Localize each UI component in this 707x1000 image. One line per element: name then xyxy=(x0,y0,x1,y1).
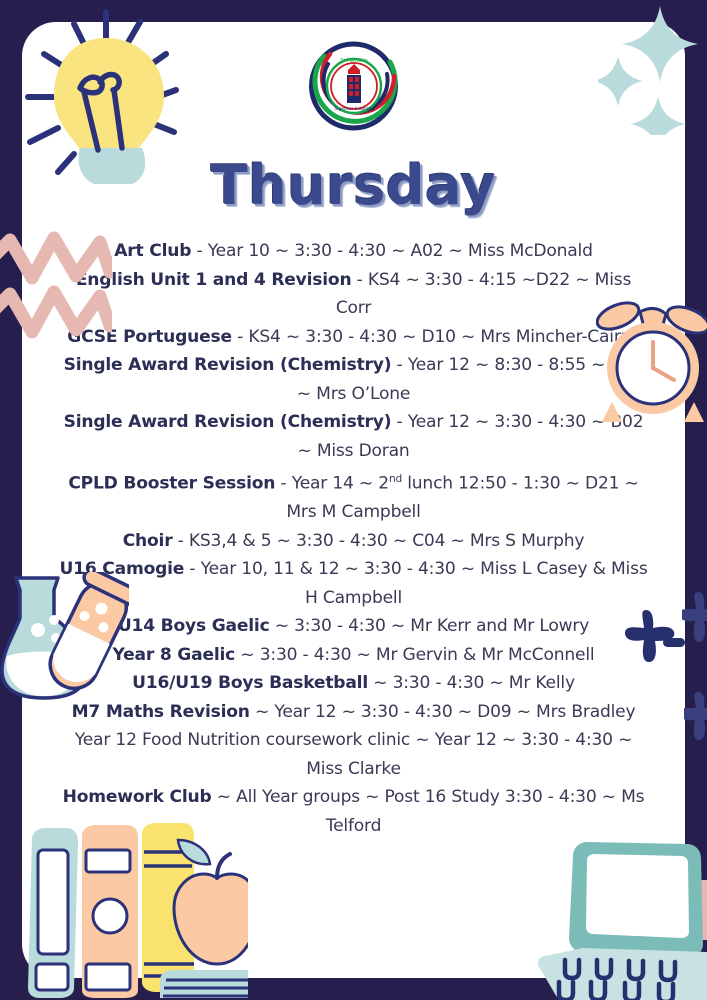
pink-accent-bar xyxy=(690,880,707,940)
entry-details: ~ Year 12 ~ 3:30 - 4:30 ~ D09 ~ Mrs Brad… xyxy=(255,702,635,722)
entry-title: Year 8 Gaelic xyxy=(113,645,236,665)
entry-details-pre: Year 14 ~ 2 xyxy=(292,474,389,494)
entry-separator: - xyxy=(191,241,207,261)
entry-details: KS3,4 & 5 ~ 3:30 - 4:30 ~ C04 ~ Mrs S Mu… xyxy=(189,531,584,551)
entry-title: U14 Boys Gaelic xyxy=(118,616,270,636)
entry-title: U16 Camogie xyxy=(59,559,184,579)
svg-text:St Patrick's: St Patrick's xyxy=(340,58,368,64)
entry-separator: - xyxy=(232,327,248,347)
schedule-entry: CPLD Booster Session - Year 14 ~ 2nd lun… xyxy=(58,465,649,527)
entry-separator: - xyxy=(275,474,291,494)
schedule-entry: Art Club - Year 10 ~ 3:30 - 4:30 ~ A02 ~… xyxy=(58,237,649,266)
entry-details: Year 10 ~ 3:30 - 4:30 ~ A02 ~ Miss McDon… xyxy=(208,241,593,261)
entry-details: ~ 3:30 - 4:30 ~ Mr Kerr and Mr Lowry xyxy=(275,616,589,636)
schedule-entry: GCSE Portuguese - KS4 ~ 3:30 - 4:30 ~ D1… xyxy=(58,323,649,352)
schedule-entry: U14 Boys Gaelic ~ 3:30 - 4:30 ~ Mr Kerr … xyxy=(58,612,649,641)
entry-details: KS4 ~ 3:30 - 4:30 ~ D10 ~ Mrs Mincher-Ca… xyxy=(248,327,639,347)
st-patricks-college-crest-icon: St Patrick's Together Inspiring xyxy=(294,36,414,136)
entry-separator: - xyxy=(172,531,188,551)
poster-root: St Patrick's Together Inspiring Thursday… xyxy=(0,0,707,1000)
schedule-entry: M7 Maths Revision ~ Year 12 ~ 3:30 - 4:3… xyxy=(58,698,649,727)
entry-title: Homework Club xyxy=(63,787,212,807)
entry-title: Year 12 Food Nutrition coursework clinic xyxy=(75,730,410,750)
logo-wrap: St Patrick's Together Inspiring xyxy=(0,36,707,136)
entries-list: Art Club - Year 10 ~ 3:30 - 4:30 ~ A02 ~… xyxy=(0,237,707,840)
schedule-entry: Single Award Revision (Chemistry) - Year… xyxy=(58,351,649,408)
entry-details: ~ All Year groups ~ Post 16 Study 3:30 -… xyxy=(217,787,645,836)
entry-title: Single Award Revision (Chemistry) xyxy=(64,412,392,432)
entry-title: GCSE Portuguese xyxy=(67,327,232,347)
page-title: Thursday xyxy=(0,154,707,217)
poster-content: St Patrick's Together Inspiring Thursday… xyxy=(0,0,707,840)
schedule-entry: English Unit 1 and 4 Revision - KS4 ~ 3:… xyxy=(58,266,649,323)
entry-title: U16/U19 Boys Basketball xyxy=(132,673,368,693)
schedule-entry: Year 12 Food Nutrition coursework clinic… xyxy=(58,726,649,783)
entry-title: Single Award Revision (Chemistry) xyxy=(64,355,392,375)
entry-separator: - xyxy=(351,270,367,290)
entry-title: Art Club xyxy=(114,241,191,261)
schedule-entry: Homework Club ~ All Year groups ~ Post 1… xyxy=(58,783,649,840)
entry-title: CPLD Booster Session xyxy=(68,474,275,494)
entry-separator: - xyxy=(391,412,407,432)
schedule-entry: U16/U19 Boys Basketball ~ 3:30 - 4:30 ~ … xyxy=(58,669,649,698)
entry-separator: - xyxy=(391,355,407,375)
svg-text:Together Inspiring: Together Inspiring xyxy=(332,106,374,112)
entry-title: English Unit 1 and 4 Revision xyxy=(76,270,352,290)
entry-details: Year 10, 11 & 12 ~ 3:30 - 4:30 ~ Miss L … xyxy=(201,559,648,608)
entry-details: KS4 ~ 3:30 - 4:15 ~D22 ~ Miss Corr xyxy=(336,270,631,319)
entry-title: M7 Maths Revision xyxy=(72,702,250,722)
schedule-entry: Year 8 Gaelic ~ 3:30 - 4:30 ~ Mr Gervin … xyxy=(58,641,649,670)
schedule-entry: Choir - KS3,4 & 5 ~ 3:30 - 4:30 ~ C04 ~ … xyxy=(58,527,649,556)
entry-details: ~ 3:30 - 4:30 ~ Mr Gervin & Mr McConnell xyxy=(240,645,594,665)
schedule-entry: Single Award Revision (Chemistry) - Year… xyxy=(58,408,649,465)
schedule-entry: U16 Camogie - Year 10, 11 & 12 ~ 3:30 - … xyxy=(58,555,649,612)
entry-ordinal-suffix: nd xyxy=(389,473,402,485)
entry-title: Choir xyxy=(123,531,173,551)
entry-separator: - xyxy=(184,559,200,579)
entry-details: ~ 3:30 - 4:30 ~ Mr Kelly xyxy=(373,673,575,693)
